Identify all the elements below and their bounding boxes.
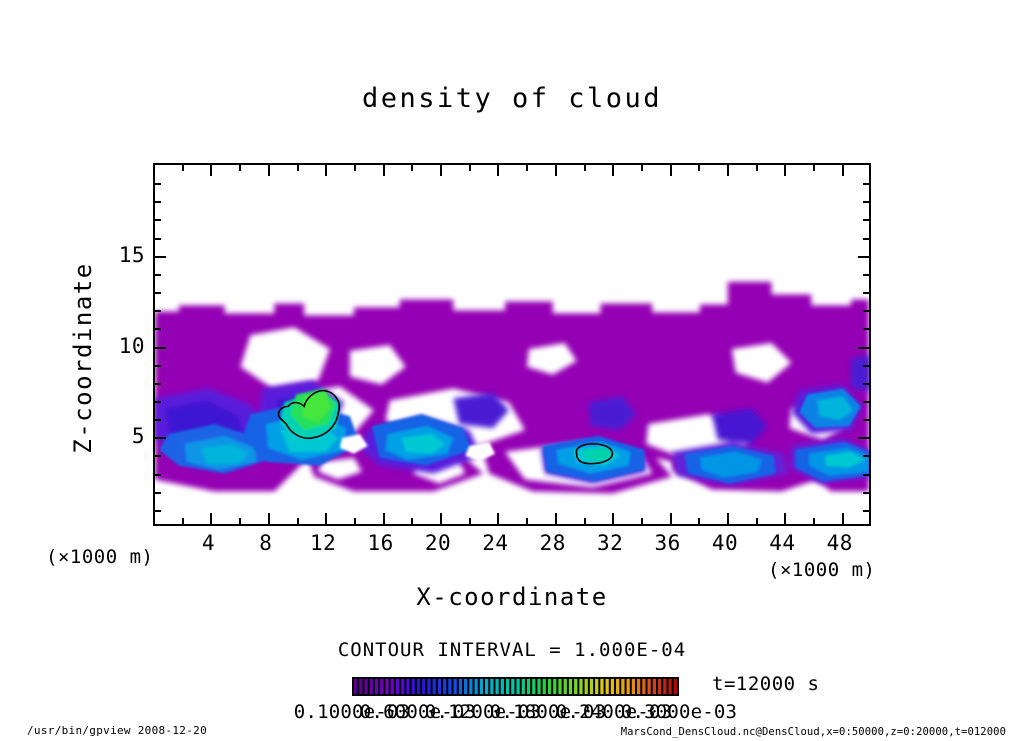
x-major-tick: [268, 513, 270, 524]
x-top-major-tick: [612, 165, 614, 176]
x-major-tick: [497, 513, 499, 524]
x-top-minor-tick: [584, 165, 586, 171]
y-right-minor-tick: [863, 219, 869, 221]
y-right-major-tick: [858, 256, 869, 258]
x-top-minor-tick: [297, 165, 299, 171]
x-minor-tick: [354, 518, 356, 524]
y-right-minor-tick: [863, 183, 869, 185]
x-top-minor-tick: [698, 165, 700, 171]
colorbar-gradient: [353, 678, 678, 695]
x-minor-tick: [239, 518, 241, 524]
x-top-major-tick: [842, 165, 844, 176]
y-minor-tick: [155, 455, 161, 457]
x-major-tick: [383, 513, 385, 524]
x-minor-tick: [411, 518, 413, 524]
x-major-tick: [842, 513, 844, 524]
y-right-minor-tick: [863, 492, 869, 494]
y-right-minor-tick: [863, 292, 869, 294]
x-major-tick: [727, 513, 729, 524]
x-top-minor-tick: [756, 165, 758, 171]
x-minor-tick: [641, 518, 643, 524]
y-tick-label: 10: [103, 334, 145, 358]
cloud-density-field: [155, 165, 869, 524]
x-minor-tick: [871, 518, 872, 524]
x-tick-label: 24: [465, 531, 525, 555]
y-minor-tick: [155, 310, 161, 312]
x-top-minor-tick: [641, 165, 643, 171]
x-tick-label: 28: [523, 531, 583, 555]
x-top-minor-tick: [182, 165, 184, 171]
x-axis-unit-left: (×1000 m): [46, 546, 153, 568]
x-major-tick: [555, 513, 557, 524]
x-top-minor-tick: [526, 165, 528, 171]
y-minor-tick: [155, 492, 161, 494]
y-minor-tick: [155, 274, 161, 276]
x-minor-tick: [698, 518, 700, 524]
x-top-major-tick: [210, 165, 212, 176]
y-right-minor-tick: [863, 474, 869, 476]
x-minor-tick: [813, 518, 815, 524]
x-tick-label: 36: [638, 531, 698, 555]
x-major-tick: [210, 513, 212, 524]
y-right-minor-tick: [863, 510, 869, 512]
y-minor-tick: [155, 419, 161, 421]
x-top-minor-tick: [411, 165, 413, 171]
x-tick-label: 8: [236, 531, 296, 555]
y-right-minor-tick: [863, 365, 869, 367]
x-axis-unit-right: (×1000 m): [768, 559, 875, 581]
x-major-tick: [612, 513, 614, 524]
y-major-tick: [155, 437, 166, 439]
x-major-tick: [440, 513, 442, 524]
x-major-tick: [325, 513, 327, 524]
y-right-minor-tick: [863, 274, 869, 276]
x-top-minor-tick: [871, 165, 872, 171]
y-tick-label: 15: [103, 243, 145, 267]
y-right-major-tick: [858, 437, 869, 439]
x-top-major-tick: [268, 165, 270, 176]
x-minor-tick: [526, 518, 528, 524]
y-major-tick: [155, 347, 166, 349]
y-axis-title: Z-coordinate: [69, 243, 97, 473]
time-label: t=12000 s: [712, 673, 819, 695]
y-minor-tick: [155, 219, 161, 221]
y-minor-tick: [155, 238, 161, 240]
x-tick-label: 48: [810, 531, 870, 555]
x-tick-label: 44: [752, 531, 812, 555]
footer-command: /usr/bin/gpview 2008-12-20: [27, 724, 207, 737]
y-right-minor-tick: [863, 328, 869, 330]
x-tick-label: 12: [293, 531, 353, 555]
y-right-minor-tick: [863, 455, 869, 457]
x-major-tick: [670, 513, 672, 524]
x-top-minor-tick: [469, 165, 471, 171]
y-right-minor-tick: [863, 201, 869, 203]
x-top-major-tick: [325, 165, 327, 176]
x-top-major-tick: [383, 165, 385, 176]
colorbar-tick-label: 0.3000e-03: [621, 701, 737, 723]
colorbar-tick-labels: 0.1000e-03 0.6000e-03 0.1200e-03 0.1800e…: [0, 701, 1024, 725]
y-minor-tick: [155, 474, 161, 476]
y-right-major-tick: [858, 347, 869, 349]
page-title: density of cloud: [0, 83, 1024, 114]
y-tick-label: 5: [103, 424, 145, 448]
y-major-tick: [155, 256, 166, 258]
y-right-minor-tick: [863, 310, 869, 312]
y-minor-tick: [155, 510, 161, 512]
y-minor-tick: [155, 365, 161, 367]
footer-dataset: MarsCond_DensCloud.nc@DensCloud,x=0:5000…: [621, 726, 1006, 738]
y-minor-tick: [155, 183, 161, 185]
colorbar[interactable]: [352, 677, 679, 696]
y-right-minor-tick: [863, 238, 869, 240]
gpview-plot-canvas: density of cloud: [0, 0, 1024, 741]
contour-interval-label: CONTOUR INTERVAL = 1.000E-04: [0, 639, 1024, 661]
x-minor-tick: [297, 518, 299, 524]
x-top-major-tick: [555, 165, 557, 176]
y-minor-tick: [155, 401, 161, 403]
x-tick-label: 16: [351, 531, 411, 555]
x-top-major-tick: [727, 165, 729, 176]
x-top-minor-tick: [813, 165, 815, 171]
x-axis-title: X-coordinate: [153, 583, 871, 611]
y-right-minor-tick: [863, 419, 869, 421]
x-minor-tick: [469, 518, 471, 524]
y-minor-tick: [155, 201, 161, 203]
x-tick-label: 40: [695, 531, 755, 555]
y-minor-tick: [155, 383, 161, 385]
x-top-major-tick: [497, 165, 499, 176]
x-top-major-tick: [670, 165, 672, 176]
x-minor-tick: [756, 518, 758, 524]
y-right-minor-tick: [863, 383, 869, 385]
y-minor-tick: [155, 292, 161, 294]
x-top-major-tick: [784, 165, 786, 176]
x-tick-label: 32: [580, 531, 640, 555]
x-top-minor-tick: [239, 165, 241, 171]
y-minor-tick: [155, 328, 161, 330]
x-major-tick: [784, 513, 786, 524]
plot-area: [153, 163, 871, 526]
x-tick-label: 4: [178, 531, 238, 555]
x-top-major-tick: [440, 165, 442, 176]
x-minor-tick: [584, 518, 586, 524]
x-minor-tick: [182, 518, 184, 524]
x-top-minor-tick: [354, 165, 356, 171]
x-tick-label: 20: [408, 531, 468, 555]
y-right-minor-tick: [863, 401, 869, 403]
